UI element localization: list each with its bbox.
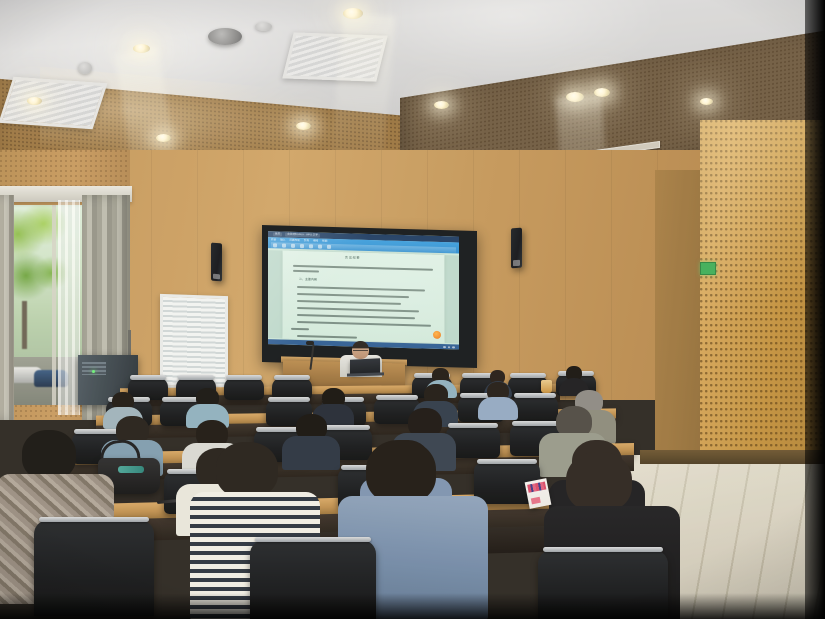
sheer-curtain[interactable] — [58, 200, 80, 415]
doc-text-line — [297, 335, 357, 338]
ribbon-tab-start[interactable]: 开始 — [271, 238, 276, 242]
italic-icon[interactable] — [282, 244, 286, 248]
list-icon[interactable] — [300, 244, 304, 248]
pamphlet[interactable] — [525, 478, 552, 509]
doc-text-line — [297, 314, 415, 319]
tree-trunk — [22, 301, 27, 349]
bottom-shadow — [0, 593, 825, 619]
document-heading: 会 议 纪 要 — [345, 255, 360, 259]
table-icon[interactable] — [309, 244, 313, 248]
floating-action-icon[interactable] — [433, 331, 441, 339]
attendee-head — [216, 442, 278, 498]
doc-text-line — [293, 270, 319, 272]
ceiling-downlight-icon — [434, 101, 449, 109]
chair[interactable] — [512, 396, 558, 422]
ceiling-downlight-icon — [700, 98, 713, 105]
style-icon[interactable] — [318, 245, 322, 249]
ceiling-downlight-icon — [156, 134, 171, 142]
paper-cup — [541, 380, 552, 393]
doc-text-line — [297, 286, 425, 291]
status-led-indicator — [92, 370, 95, 373]
exit-sign-icon — [700, 262, 716, 275]
lecture-hall-photo: 首页 会议材料.docx - WPS 文字 开始 插入 页面布局 引用 审阅 视… — [0, 0, 825, 619]
doc-text-line — [291, 328, 309, 330]
wall-speaker-left-icon — [211, 243, 222, 282]
ribbon-tab-insert[interactable]: 插入 — [280, 238, 285, 242]
page-left-margin — [268, 250, 282, 338]
attendee-head — [22, 430, 76, 480]
right-edge-shadow — [805, 0, 825, 619]
attendee-torso — [478, 397, 518, 420]
square-air-diffuser-icon — [0, 77, 107, 130]
document-page[interactable]: 会 议 纪 要 二、主要内容 三、要求 — [283, 251, 444, 343]
ceiling-downlight-icon — [594, 88, 610, 97]
ceiling-speaker-icon — [208, 28, 242, 45]
projection-screen-frame: 首页 会议材料.docx - WPS 文字 开始 插入 页面布局 引用 审阅 视… — [262, 225, 477, 368]
document-section-label: 二、主要内容 — [299, 277, 317, 282]
ribbon-tab-review[interactable]: 审阅 — [313, 239, 318, 243]
page-right-margin — [445, 255, 459, 343]
smoke-detector-icon — [255, 22, 272, 31]
ribbon-tab-refs[interactable]: 引用 — [304, 239, 309, 243]
square-air-diffuser-icon — [282, 32, 387, 81]
handbag-accent — [118, 466, 144, 473]
tab-home[interactable]: 首页 — [273, 232, 282, 236]
smoke-detector-icon — [78, 62, 92, 74]
curtain-left[interactable] — [0, 195, 14, 420]
projected-display[interactable]: 首页 会议材料.docx - WPS 文字 开始 插入 页面布局 引用 审阅 视… — [268, 231, 459, 349]
chair[interactable] — [224, 378, 264, 400]
doc-text-line — [297, 293, 409, 298]
attendee-head — [366, 440, 436, 504]
ribbon-tab-view[interactable]: 视图 — [322, 239, 327, 243]
wall-speaker-right-icon — [511, 228, 522, 269]
doc-text-line — [297, 300, 401, 304]
ceiling-downlight-icon — [296, 122, 311, 130]
bold-icon[interactable] — [273, 243, 277, 247]
view-mode-icon[interactable] — [443, 346, 446, 349]
attendee-head — [566, 452, 632, 512]
floor-skirting — [640, 450, 825, 464]
zoom-out-icon[interactable] — [448, 346, 451, 349]
glasses-icon — [353, 350, 368, 354]
zoom-in-icon[interactable] — [452, 346, 455, 349]
attendee-torso — [282, 436, 340, 470]
ceiling-downlight-icon — [133, 44, 150, 53]
ceiling-downlight-icon — [566, 92, 584, 102]
doc-text-line — [297, 307, 419, 312]
status-bar-icons[interactable] — [443, 346, 455, 349]
align-icon[interactable] — [291, 244, 295, 248]
ceiling-downlight-icon — [27, 97, 42, 105]
microphone-capsule-icon — [306, 341, 314, 345]
window-mullion — [52, 205, 56, 405]
ceiling-downlight-icon — [343, 8, 363, 19]
find-icon[interactable] — [327, 245, 331, 249]
doc-text-line — [297, 321, 431, 326]
